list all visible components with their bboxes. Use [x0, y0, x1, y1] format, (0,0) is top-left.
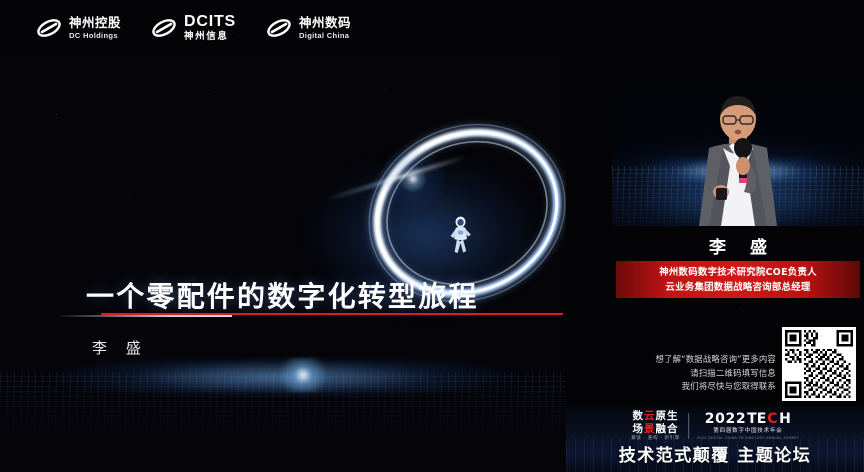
ring-starburst: [368, 134, 458, 224]
horizon-data-grid: [0, 372, 566, 442]
speaker-title-banner: 神州数码数字技术研究院COE负责人 云业务集团数据战略咨询部总经理: [616, 261, 860, 298]
qr-code-image: [785, 330, 853, 398]
dc-swoosh-icon: [36, 17, 62, 39]
event-subtitle-en: 2022 DIGITAL CHINA TECHNOLOGY ANNUAL SUM…: [697, 437, 799, 440]
event-tech-o: C: [767, 412, 778, 426]
logo-dcits-name: DCITS: [184, 14, 236, 30]
logo-dc-holdings-en: DC Holdings: [69, 32, 121, 40]
qr-caption-line-3: 我们将尽快与您取得联系: [655, 380, 776, 394]
logo-digital-china-en: Digital China: [299, 32, 351, 40]
qr-block: 想了解“数据战略咨询”更多内容 请扫描二维码填写信息 我们将尽快与您取得联系: [612, 327, 864, 405]
logo-dcits-text: DCITS 神州信息: [184, 14, 236, 42]
qr-code[interactable]: [782, 327, 856, 401]
qr-caption-line-1: 想了解“数据战略咨询”更多内容: [655, 353, 776, 367]
brand-l2-a: 场: [633, 423, 645, 435]
digital-china-swoosh-icon: [266, 17, 292, 39]
forum-title: 技术范式颠覆 主题论坛: [566, 441, 864, 466]
event-subtitle: 第四届数字中国技术年会: [713, 429, 782, 435]
slide-horizon-glow: [0, 342, 566, 472]
qr-caption-line-2: 请扫描二维码填写信息: [655, 367, 776, 381]
logo-dcits-cn: 神州信息: [184, 32, 236, 42]
event-title-block: 2022 TECH 第四届数字中国技术年会 2022 DIGITAL CHINA…: [697, 412, 799, 440]
brand-l1-a: 数: [633, 410, 645, 422]
event-year: 2022: [705, 412, 746, 426]
speaker-title-line-2: 云业务集团数据战略咨询部总经理: [665, 280, 810, 295]
event-brand-line-1: 数云原生: [633, 411, 679, 422]
brand-l2-red: 景: [644, 423, 656, 435]
dcits-swoosh-icon: [151, 17, 177, 39]
sponsor-logo-bar: 神州控股 DC Holdings DCITS 神州信息 神州数码 Digital…: [0, 0, 864, 56]
qr-caption: 想了解“数据战略咨询”更多内容 请扫描二维码填写信息 我们将尽快与您取得联系: [655, 353, 776, 394]
logo-dc-holdings-text: 神州控股 DC Holdings: [69, 17, 121, 40]
brand-l1-b: 原生: [656, 410, 679, 422]
brand-l1-red: 云: [644, 410, 656, 422]
brand-l2-b: 融合: [656, 423, 679, 435]
event-bottom-bar: 数云原生 场景融合 聚链 · 重构 · 新引擎 2022 TECH 第四届数字中…: [566, 406, 864, 472]
logo-digital-china-text: 神州数码 Digital China: [299, 17, 351, 40]
event-brand-line-2: 场景融合: [633, 424, 679, 435]
speaker-video-panel[interactable]: [612, 84, 864, 226]
presentation-screen: 神州控股 DC Holdings DCITS 神州信息 神州数码 Digital…: [0, 0, 864, 472]
event-logo: 数云原生 场景融合 聚链 · 重构 · 新引擎 2022 TECH 第四届数字中…: [631, 411, 799, 442]
logo-digital-china: 神州数码 Digital China: [266, 17, 351, 40]
event-brand-block: 数云原生 场景融合 聚链 · 重构 · 新引擎: [631, 411, 680, 442]
logo-dc-holdings-cn: 神州控股: [69, 17, 121, 30]
event-logo-divider: [688, 413, 689, 439]
slide-area: 一个零配件的数字化转型旅程 李 盛: [0, 56, 566, 472]
speaker-title-line-1: 神州数码数字技术研究院COE负责人: [659, 265, 817, 280]
speaker-portrait: [663, 92, 813, 226]
speaker-name: 李 盛: [612, 233, 864, 258]
event-year-tech: 2022 TECH: [705, 412, 791, 426]
astronaut-figure-icon: [448, 216, 474, 258]
logo-dc-holdings: 神州控股 DC Holdings: [36, 17, 121, 40]
logo-dcits: DCITS 神州信息: [151, 14, 236, 42]
event-tech-b: H: [779, 412, 791, 426]
slide-title: 一个零配件的数字化转型旅程: [86, 275, 479, 315]
logo-digital-china-cn: 神州数码: [299, 17, 351, 30]
event-tech-a: TE: [747, 412, 766, 426]
title-rule-grey: [60, 315, 232, 317]
